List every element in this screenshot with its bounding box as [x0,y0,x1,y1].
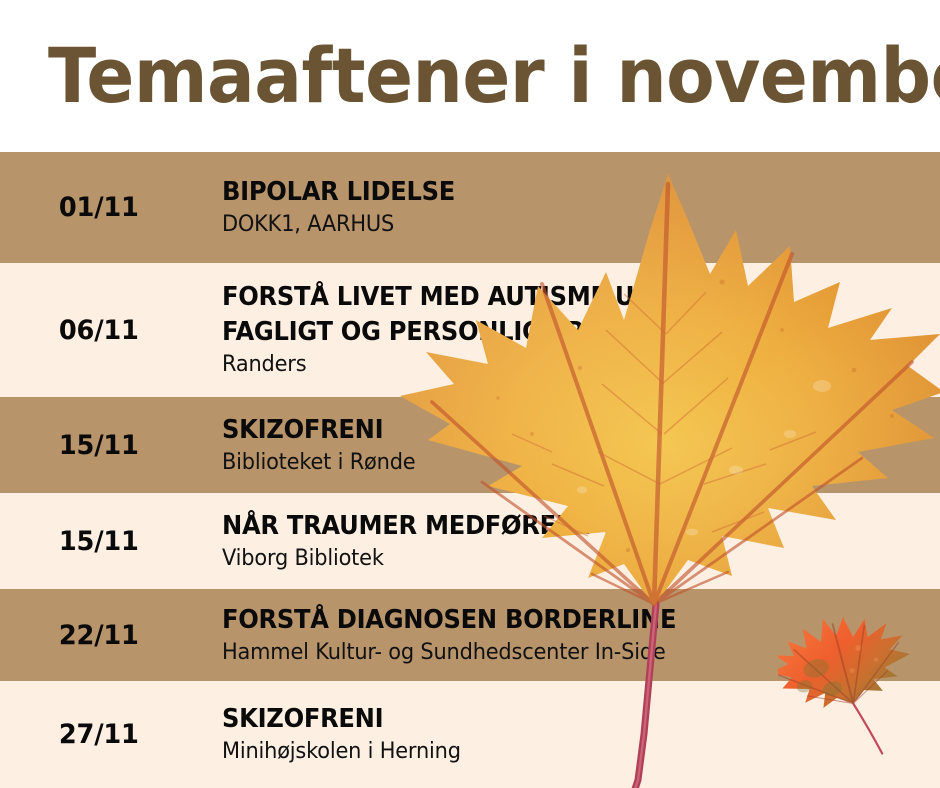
row-venue: DOKK1, AARHUS [222,211,904,240]
schedule-row[interactable]: 22/11 FORSTÅ DIAGNOSEN BORDERLINE Hammel… [0,589,940,681]
row-date: 15/11 [0,430,211,461]
row-title: BIPOLAR LIDELSE [222,175,890,209]
row-body: BIPOLAR LIDELSE DOKK1, AARHUS [222,175,940,240]
row-body: SKIZOFRENI Biblioteket i Rønde [222,413,940,478]
row-body: SKIZOFRENI Minihøjskolen i Herning [222,702,940,767]
row-venue: Minihøjskolen i Herning [222,738,904,767]
row-date: 27/11 [0,719,211,750]
schedule-row[interactable]: 27/11 SKIZOFRENI Minihøjskolen i Herning [0,681,940,788]
row-venue: Randers [222,351,904,380]
row-date: 15/11 [0,526,211,557]
row-venue: Biblioteket i Rønde [222,449,904,478]
schedule-row[interactable]: 06/11 FORSTÅ LIVET MED AUTISME UD FRA ET… [0,263,940,397]
row-venue: Hammel Kultur- og Sundhedscenter In-Side [222,639,904,668]
poster-canvas: 01/11 BIPOLAR LIDELSE DOKK1, AARHUS 06/1… [0,0,940,788]
row-title: FORSTÅ DIAGNOSEN BORDERLINE [222,603,890,637]
row-date: 22/11 [0,620,211,651]
schedule-row[interactable]: 15/11 SKIZOFRENI Biblioteket i Rønde [0,397,940,493]
schedule-row[interactable]: 01/11 BIPOLAR LIDELSE DOKK1, AARHUS [0,152,940,263]
row-title: NÅR TRAUMER MEDFØRER PTSD [222,509,890,543]
row-venue: Viborg Bibliotek [222,545,904,574]
row-date: 06/11 [0,315,211,346]
row-title: SKIZOFRENI [222,702,890,736]
row-body: FORSTÅ LIVET MED AUTISME UD FRA ET FAGLI… [222,280,940,379]
schedule-list: 01/11 BIPOLAR LIDELSE DOKK1, AARHUS 06/1… [0,152,940,788]
row-title: SKIZOFRENI [222,413,890,447]
row-body: NÅR TRAUMER MEDFØRER PTSD Viborg Bibliot… [222,509,940,574]
row-title: FORSTÅ LIVET MED AUTISME UD FRA ET FAGLI… [222,280,890,349]
schedule-row[interactable]: 15/11 NÅR TRAUMER MEDFØRER PTSD Viborg B… [0,493,940,589]
row-date: 01/11 [0,192,211,223]
page-title: Temaaftener i november [48,38,940,114]
poster-header: Temaaftener i november [0,0,940,152]
row-body: FORSTÅ DIAGNOSEN BORDERLINE Hammel Kultu… [222,603,940,668]
